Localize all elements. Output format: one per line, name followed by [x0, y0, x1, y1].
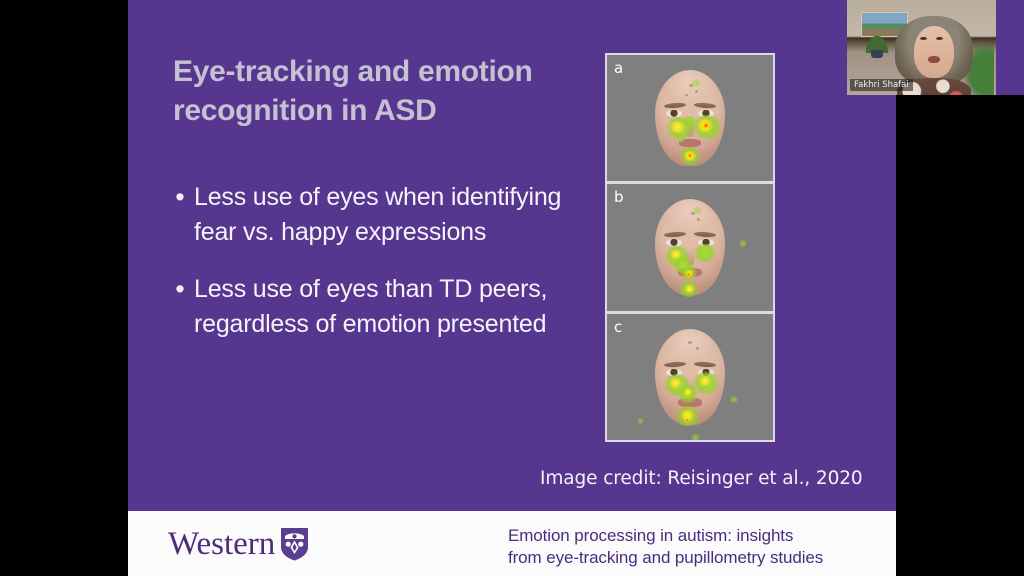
heatmap-blob	[739, 240, 747, 247]
talk-title-line-1: Emotion processing in autism: insights	[508, 525, 823, 547]
plant-pot	[871, 50, 883, 58]
speaker-face	[914, 26, 954, 78]
heatmap-blob	[676, 135, 685, 143]
slide-footer: Western Emotion processing in autism: in…	[128, 511, 896, 576]
panel-label: a	[614, 59, 623, 77]
video-frame: Eye-tracking and emotion recognition in …	[0, 0, 1024, 576]
slide-content-area: Eye-tracking and emotion recognition in …	[128, 0, 896, 511]
heatmap-blob-peak	[687, 153, 693, 158]
bullet-text: Less use of eyes than TD peers, regardle…	[194, 272, 566, 342]
talk-title-line-2: from eye-tracking and pupillometry studi…	[508, 547, 823, 569]
heatmap-blob	[684, 388, 692, 396]
webcam-thumbnail[interactable]: Fakhri Shafai	[847, 0, 996, 95]
freckle	[695, 90, 698, 93]
eye-tracking-figure: a	[605, 53, 775, 442]
heatmap-blob	[691, 434, 700, 440]
heatmap-blob	[637, 418, 644, 424]
bullet-marker-icon: •	[166, 180, 194, 250]
heatmap-blob	[730, 396, 738, 403]
face-stimulus-image	[607, 55, 773, 181]
freckle	[685, 94, 688, 96]
speaker-eye-left	[920, 37, 927, 40]
talk-title: Emotion processing in autism: insights f…	[508, 525, 823, 569]
heatmap-blob	[669, 378, 682, 388]
western-shield-icon	[280, 527, 309, 561]
speaker-eye-right	[936, 37, 943, 40]
participant-name-label: Fakhri Shafai	[850, 79, 913, 91]
bullet-item: • Less use of eyes than TD peers, regard…	[166, 272, 566, 342]
heatmap-blob	[699, 376, 711, 386]
bullet-list: • Less use of eyes when identifying fear…	[166, 180, 566, 364]
eyebrow-left	[664, 102, 686, 109]
speaker-mouth	[928, 56, 940, 63]
face-stimulus-image	[607, 314, 773, 440]
eyebrow-right	[694, 102, 716, 109]
image-credit: Image credit: Reisinger et al., 2020	[540, 468, 863, 489]
eyebrow-left	[664, 232, 686, 239]
heatmap-blob-peak	[685, 418, 690, 423]
heatmap-blob-peak	[702, 122, 710, 129]
figure-panel-a: a	[607, 55, 773, 181]
freckle	[697, 218, 700, 221]
eyebrow-right	[694, 361, 716, 368]
panel-label: c	[614, 318, 622, 336]
freckle	[696, 347, 699, 350]
eyebrow-left	[664, 361, 686, 368]
western-university-logo: Western	[168, 527, 309, 561]
presentation-slide: Eye-tracking and emotion recognition in …	[128, 0, 896, 576]
bullet-marker-icon: •	[166, 272, 194, 342]
wordmark-text: Western	[168, 528, 275, 561]
bullet-text: Less use of eyes when identifying fear v…	[194, 180, 566, 250]
slide-title: Eye-tracking and emotion recognition in …	[173, 52, 553, 130]
webcam-side-strip	[996, 0, 1024, 95]
freckle	[688, 341, 692, 344]
panel-label: b	[614, 188, 624, 206]
eyebrow-right	[694, 232, 716, 239]
heatmap-blob	[683, 116, 696, 126]
figure-panel-b: b	[607, 184, 773, 310]
bullet-item: • Less use of eyes when identifying fear…	[166, 180, 566, 250]
face-stimulus-image	[607, 184, 773, 310]
figure-panel-c: c	[607, 314, 773, 440]
heatmap-blob	[691, 79, 701, 87]
